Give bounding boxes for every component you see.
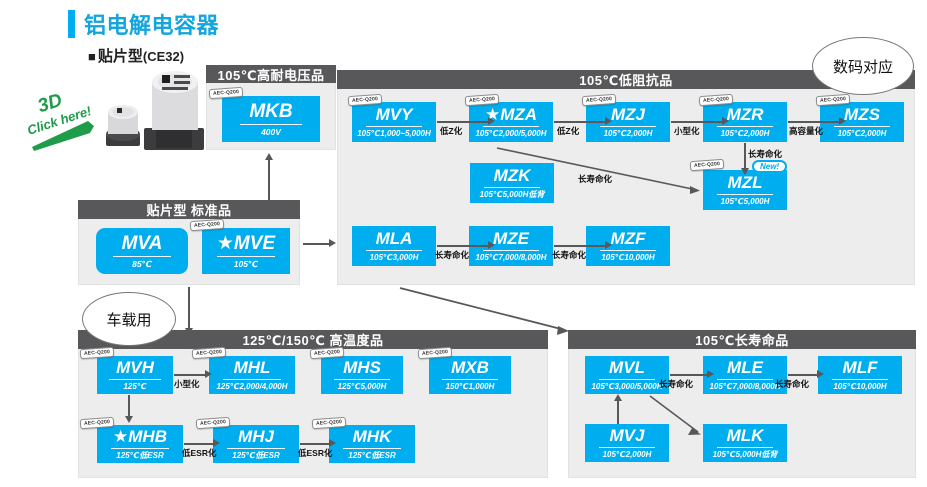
callout-digital: 数码对应: [812, 37, 914, 95]
arrow-head-right: [707, 370, 714, 378]
3d-click-here-link[interactable]: 3D Click here!: [26, 93, 106, 155]
product-spec: 105℃5,000H低背: [480, 191, 545, 199]
product-box-mxb[interactable]: MXB 150℃1,000H: [429, 356, 511, 394]
divider: [227, 448, 285, 449]
product-name: MLK: [727, 427, 764, 444]
arrow-standard-to-mkb: [268, 160, 270, 202]
capacitor-photo-icon: [100, 62, 210, 157]
divider: [483, 126, 539, 127]
arrow-mvh-mhb: [128, 395, 130, 417]
arrow-head-down: [125, 416, 133, 423]
product-name: MLE: [727, 359, 763, 376]
product-name: MKB: [249, 102, 292, 121]
product-name: MZE: [493, 230, 529, 247]
product-spec: 85℃: [132, 260, 152, 269]
arrow-label-long-life: 长寿命化: [578, 173, 612, 185]
arrow-mvl-mle: [670, 374, 708, 376]
divider: [109, 379, 161, 380]
divider: [600, 126, 656, 127]
arrow-head-right: [488, 241, 495, 249]
arrow-label-low-esr: 低ESR化: [182, 447, 216, 459]
product-name: MHS: [343, 359, 381, 376]
arrow-mle-mlf: [788, 374, 818, 376]
product-box-mhk[interactable]: MHK 125℃低ESR: [329, 425, 415, 463]
product-name: MVY: [376, 106, 413, 123]
arrow-mzr-mzl: [744, 143, 746, 169]
product-name: MVJ: [610, 427, 645, 444]
arrow-standard-to-hightemp: [188, 287, 190, 329]
divider: [483, 250, 539, 251]
divider: [111, 448, 169, 449]
divider: [113, 256, 171, 257]
product-spec: 125℃2,000/4,000H: [216, 383, 287, 391]
product-box-mhs[interactable]: MHS 125℃5,000H: [321, 356, 403, 394]
divider: [484, 187, 540, 188]
product-spec: 105℃7,000/8,000H: [475, 254, 546, 262]
divider: [599, 379, 655, 380]
divider: [334, 379, 390, 380]
product-spec: 125℃5,000H: [338, 383, 387, 391]
product-spec: 125℃低ESR: [232, 452, 279, 460]
product-spec: 105℃5,000H: [721, 198, 770, 206]
product-name: MZK: [494, 167, 531, 184]
product-name: MZJ: [611, 106, 645, 123]
product-box-mve[interactable]: ★MVE 105℃: [202, 228, 290, 274]
product-box-mla[interactable]: MLA 105℃3,000H: [352, 226, 436, 266]
star-marker: ★: [217, 233, 234, 254]
arrow-label-miniaturization: 小型化: [674, 125, 700, 137]
arrow-label-low-esr: 低ESR化: [298, 447, 332, 459]
divider: [217, 256, 275, 257]
arrow-label-low-z: 低Z化: [440, 125, 462, 137]
product-box-mlk[interactable]: MLK 105℃5,000H低背: [703, 424, 787, 462]
arrow-head-right: [839, 117, 846, 125]
arrow-head-right: [213, 439, 220, 447]
arrow-head-up: [614, 394, 622, 401]
product-box-mlf[interactable]: MLF 105℃10,000H: [818, 356, 902, 394]
product-name: MXB: [451, 359, 489, 376]
product-name: MZS: [844, 106, 880, 123]
arrow-mzr-mzs: [788, 121, 840, 123]
arrow-label-long-life: 长寿命化: [552, 249, 586, 261]
arrow-head-right: [205, 370, 212, 378]
product-name-text: MHB: [128, 427, 167, 446]
divider: [600, 250, 656, 251]
product-spec: 105℃5,000H低背: [713, 451, 778, 459]
divider: [442, 379, 498, 380]
arrow-mvh-mhl: [174, 374, 206, 376]
arrow-head-right: [722, 117, 729, 125]
divider: [223, 379, 281, 380]
panel-standard-title: 贴片型 标准品: [78, 200, 300, 219]
divider: [599, 447, 655, 448]
arrow-head-right: [605, 241, 612, 249]
panel-high-voltage-title: 105℃高耐电压品: [206, 65, 336, 83]
page-title: 铝电解电容器: [68, 8, 219, 40]
callout-automotive: 车载用: [82, 292, 176, 346]
arrow-label-long-life: 长寿命化: [659, 378, 693, 390]
product-box-mvj[interactable]: MVJ 105℃2,000H: [585, 424, 669, 462]
product-spec: 105℃2,000H: [721, 130, 770, 138]
arrow-head-up: [265, 153, 273, 160]
divider: [717, 447, 773, 448]
product-name-text: MZA: [500, 105, 537, 124]
arrow-standard-to-lowz: [303, 243, 330, 245]
product-spec: 125℃低ESR: [348, 452, 395, 460]
arrow-mla-mze: [437, 245, 489, 247]
green-arrow-icon: [26, 93, 106, 155]
arrow-mvy-mza: [437, 121, 489, 123]
product-box-mva[interactable]: MVA 85℃: [96, 228, 188, 274]
product-box-mvl[interactable]: MVL 105℃3,000/5,000H: [585, 356, 669, 394]
arrow-label-low-z: 低Z化: [557, 125, 579, 137]
product-name: MVH: [116, 359, 154, 376]
divider: [717, 194, 773, 195]
product-name: ★MHB: [113, 428, 167, 445]
product-spec: 105℃7,000/8,000H: [709, 383, 780, 391]
panel-long-life-title: 105℃长寿命品: [568, 330, 916, 349]
product-box-mzl[interactable]: MZL 105℃5,000H: [703, 170, 787, 210]
product-spec: 400V: [261, 128, 281, 137]
arrow-label-long-life: 长寿命化: [435, 249, 469, 261]
arrow-mhb-mhj: [184, 443, 214, 445]
product-name: MVA: [122, 234, 163, 253]
product-spec: 105℃2,000H: [604, 130, 653, 138]
product-spec: 105℃10,000H: [601, 254, 654, 262]
arrow-head-right: [488, 117, 495, 125]
product-name: MHK: [353, 428, 392, 445]
product-name: MVL: [609, 359, 645, 376]
product-spec: 105℃3,000H: [370, 254, 419, 262]
product-box-mkb[interactable]: MKB 400V: [222, 96, 320, 142]
page-title-text: 铝电解电容器: [84, 8, 219, 40]
arrow-mzj-mzr: [671, 121, 723, 123]
product-box-mvy[interactable]: MVY 105℃1,000~5,000H: [352, 102, 436, 142]
product-name: MZL: [728, 174, 763, 191]
divider: [366, 126, 422, 127]
arrow-head-right: [329, 239, 336, 247]
product-name: MHL: [234, 359, 271, 376]
title-accent-bar: [68, 10, 75, 38]
product-box-mhj[interactable]: MHJ 125℃低ESR: [213, 425, 299, 463]
product-spec: 105℃2,000H: [838, 130, 887, 138]
arrow-mze-mzf: [554, 245, 606, 247]
product-spec: 105℃3,000/5,000H: [591, 383, 662, 391]
arrow-label-high-capacity: 高容量化: [789, 125, 823, 137]
product-spec: 105℃10,000H: [833, 383, 886, 391]
divider: [717, 126, 773, 127]
divider: [343, 448, 401, 449]
product-name: MLF: [843, 359, 878, 376]
arrow-head-right: [817, 370, 824, 378]
arrow-head-down: [741, 168, 749, 175]
divider: [240, 124, 302, 125]
bullet-square-icon: ■: [88, 49, 96, 64]
divider: [366, 250, 422, 251]
arrow-label-long-life: 长寿命化: [775, 378, 809, 390]
product-box-mhl[interactable]: MHL 125℃2,000/4,000H: [209, 356, 295, 394]
product-photos: [100, 62, 210, 157]
product-box-mhb[interactable]: ★MHB 125℃低ESR: [97, 425, 183, 463]
product-spec: 105℃: [234, 260, 258, 269]
product-spec: 105℃2,000H: [603, 451, 652, 459]
product-spec: 105℃2,000/5,000H: [475, 130, 546, 138]
divider: [834, 126, 890, 127]
product-name: MLA: [376, 230, 413, 247]
arrow-mvj-mvl: [617, 400, 619, 424]
divider: [832, 379, 888, 380]
product-name: MZF: [611, 230, 646, 247]
star-marker: ★: [113, 427, 128, 446]
product-name: ★MVE: [217, 234, 275, 253]
product-name: MZR: [727, 106, 764, 123]
product-spec: 125℃低ESR: [116, 452, 163, 460]
product-box-mzk[interactable]: MZK 105℃5,000H低背: [470, 163, 554, 203]
arrow-head-down: [185, 328, 193, 335]
divider: [717, 379, 773, 380]
product-spec: 150℃1,000H: [446, 383, 495, 391]
product-name: MHJ: [238, 428, 274, 445]
arrow-label-long-life: 长寿命化: [748, 148, 782, 160]
product-name-text: MVE: [234, 233, 275, 254]
arrow-head-right: [329, 439, 336, 447]
arrow-head-right: [605, 117, 612, 125]
product-spec: 105℃1,000~5,000H: [357, 130, 431, 138]
product-spec: 125℃: [123, 383, 146, 391]
new-badge: New!: [752, 160, 787, 173]
arrow-mza-mzj: [554, 121, 606, 123]
product-box-mvh[interactable]: MVH 125℃: [97, 356, 173, 394]
arrow-label-miniaturization: 小型化: [174, 378, 200, 390]
arrow-mhj-mhk: [300, 443, 330, 445]
